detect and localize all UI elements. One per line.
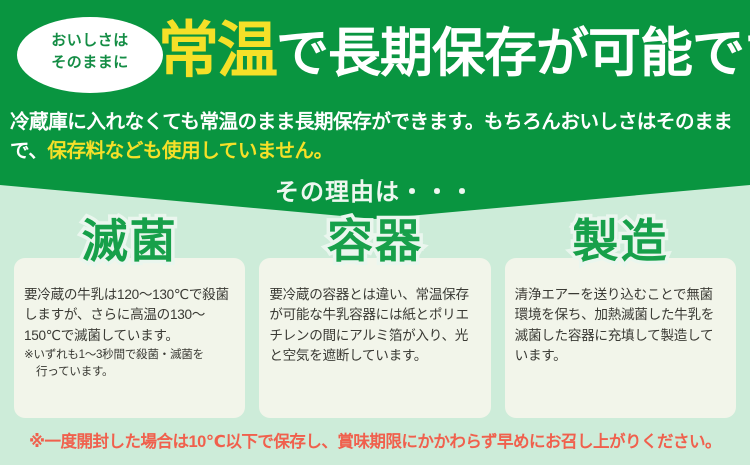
- card-note-line1: ※いずれも1〜3秒間で殺菌・滅菌を: [24, 348, 204, 361]
- headline-rest-text: で長期保存が可能です: [276, 24, 750, 83]
- speech-bubble: おいしさは そのままに: [17, 17, 163, 93]
- card-title-manufacturing: 製造: [505, 218, 736, 264]
- card-body-sterilization: 要冷蔵の牛乳は120〜130℃で殺菌しますが、さらに高温の130〜150℃で滅菌…: [24, 285, 235, 346]
- card-note-line2: 行っています。: [24, 364, 113, 381]
- infographic-root: おいしさは そのままに 常温で長期保存が可能です 冷蔵庫に入れなくても常温のまま…: [0, 0, 750, 465]
- reason-label: その理由は・・・: [0, 172, 750, 207]
- card-note-sterilization: ※いずれも1〜3秒間で殺菌・滅菌を行っています。: [24, 347, 235, 381]
- page-headline: 常温で長期保存が可能です: [158, 20, 750, 81]
- reason-cards: 滅菌 要冷蔵の牛乳は120〜130℃で殺菌しますが、さらに高温の130〜150℃…: [14, 258, 736, 418]
- card-title-sterilization: 滅菌: [14, 218, 245, 264]
- headline-accent-text: 常温: [158, 16, 276, 84]
- lede-text-accent: 保存料なども使用していません。: [47, 140, 332, 162]
- speech-bubble-text: おいしさは そのままに: [17, 30, 163, 74]
- card-body-container: 要冷蔵の容器とは違い、常温保存が可能な牛乳容器には紙とポリエチレンの間にアルミ箔…: [269, 285, 480, 367]
- card-title-container: 容器: [259, 218, 490, 264]
- footer-note: ※一度開封した場合は10℃以下で保存し、賞味期限にかかわらず早めにお召し上がりく…: [0, 428, 750, 452]
- lede-paragraph: 冷蔵庫に入れなくても常温のまま長期保存ができます。もちろんおいしさはそのままで、…: [10, 108, 744, 166]
- reason-card-container: 容器 要冷蔵の容器とは違い、常温保存が可能な牛乳容器には紙とポリエチレンの間にア…: [259, 258, 490, 418]
- reason-card-manufacturing: 製造 清浄エアーを送り込むことで無菌環境を保ち、加熱滅菌した牛乳を滅菌した容器に…: [505, 258, 736, 418]
- card-body-manufacturing: 清浄エアーを送り込むことで無菌環境を保ち、加熱滅菌した牛乳を滅菌した容器に充填し…: [515, 285, 726, 367]
- reason-card-sterilization: 滅菌 要冷蔵の牛乳は120〜130℃で殺菌しますが、さらに高温の130〜150℃…: [14, 258, 245, 418]
